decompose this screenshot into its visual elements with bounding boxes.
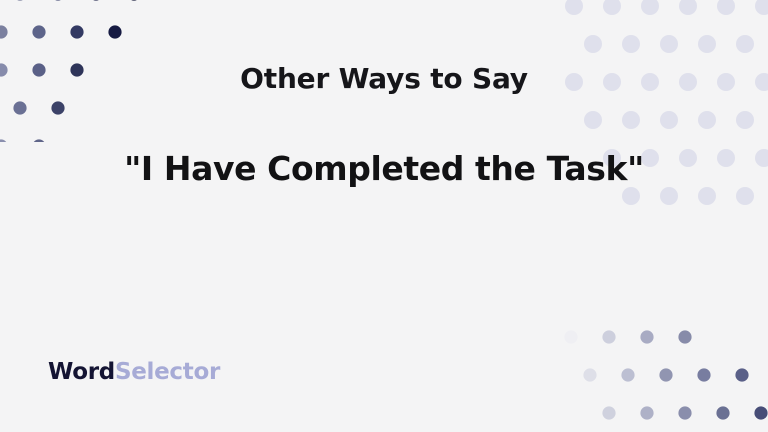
logo-word-secondary: Selector: [115, 359, 220, 385]
logo-word-primary: Word: [48, 359, 115, 385]
headline-line-1: "I Have Completed the: [124, 149, 535, 188]
logo[interactable]: WordSelector: [48, 361, 220, 384]
spacer: [0, 96, 768, 146]
eyebrow-text: Other Ways to Say: [0, 62, 768, 96]
headline-line-2: Task": [547, 149, 644, 188]
dot-pattern-bottom-right: [549, 325, 768, 432]
header-card: Other Ways to Say "I Have Completed the …: [0, 0, 768, 432]
text-block: Other Ways to Say "I Have Completed the …: [0, 62, 768, 192]
page-title: "I Have Completed the Task": [0, 146, 768, 193]
